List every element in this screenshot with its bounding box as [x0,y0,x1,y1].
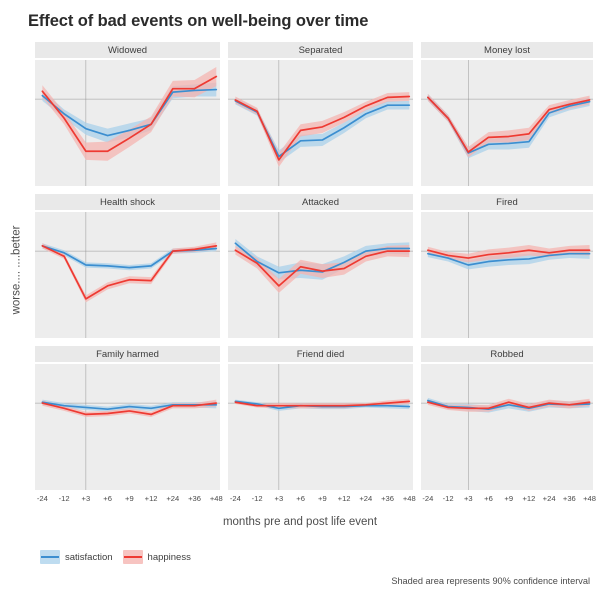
legend-item[interactable]: satisfaction [40,550,113,564]
confidence-band-happiness [235,92,409,167]
facet-title: Money lost [484,45,530,56]
facet-title: Health shock [100,197,155,208]
facet-plot-area [421,60,593,186]
chart-root: Effect of bad events on well-being over … [0,0,600,600]
facet-strip: Fired [421,194,593,210]
x-axis-tick: +3 [464,494,473,503]
x-axis-tick: +24 [543,494,556,503]
x-axis-tick: +3 [275,494,284,503]
legend-label: happiness [148,552,191,563]
x-axis-tick: +36 [381,494,394,503]
x-axis-label: months pre and post life event [0,516,600,528]
facet-panel: Money lost [421,42,593,186]
facet-panel: Family harmed [35,346,220,490]
x-axis-tick: +6 [484,494,493,503]
facet-strip: Family harmed [35,346,220,362]
x-axis-tick: +6 [103,494,112,503]
facet-title: Separated [299,45,343,56]
x-axis-tick: +6 [296,494,305,503]
facet-plot-area [421,212,593,338]
y-axis-label-text: worse.... ....better [10,226,22,315]
chart-caption: Shaded area represents 90% confidence in… [391,576,590,586]
facet-strip: Attacked [228,194,413,210]
chart-title: Effect of bad events on well-being over … [28,12,368,31]
facet-title: Attacked [302,197,339,208]
x-axis: -24-12+3+6+9+12+24+36+48 [35,494,220,508]
confidence-band-happiness [42,242,216,302]
x-axis-tick: -12 [59,494,70,503]
facet-panel: Separated [228,42,413,186]
facet-panel: Widowed [35,42,220,186]
y-axis-label: worse.... ....better [6,190,26,350]
x-axis-tick: +12 [522,494,535,503]
legend-label: satisfaction [65,552,113,563]
facet-strip: Friend died [228,346,413,362]
x-axis-tick: -12 [252,494,263,503]
x-axis-tick: +24 [166,494,179,503]
x-axis-tick: +48 [403,494,416,503]
x-axis-tick: -24 [37,494,48,503]
x-axis-tick: +3 [82,494,91,503]
facet-plot-area [421,364,593,490]
facet-strip: Separated [228,42,413,58]
x-axis-tick: +9 [318,494,327,503]
facet-title: Widowed [108,45,147,56]
facet-panel: Robbed [421,346,593,490]
facet-panel: Fired [421,194,593,338]
facet-strip: Money lost [421,42,593,58]
x-axis-tick: +24 [359,494,372,503]
legend-item[interactable]: happiness [123,550,191,564]
facet-plot-area [35,212,220,338]
facet-strip: Robbed [421,346,593,362]
facet-title: Family harmed [96,349,159,360]
facet-plot-area [228,212,413,338]
x-axis-tick: +36 [563,494,576,503]
x-axis-tick: +36 [188,494,201,503]
legend: satisfactionhappiness [40,550,191,564]
facet-plot-area [35,60,220,186]
x-axis-tick: -12 [443,494,454,503]
facet-strip: Health shock [35,194,220,210]
x-axis: -24-12+3+6+9+12+24+36+48 [228,494,413,508]
x-axis-tick: +9 [125,494,134,503]
facet-title: Robbed [490,349,523,360]
x-axis-tick: +48 [583,494,596,503]
x-axis-tick: -24 [422,494,433,503]
facet-plot-area [228,364,413,490]
facet-panel: Attacked [228,194,413,338]
facet-panel: Health shock [35,194,220,338]
x-axis-tick: +48 [210,494,223,503]
facet-plot-area [35,364,220,490]
x-axis-tick: -24 [230,494,241,503]
legend-swatch [123,550,143,564]
facet-title: Friend died [297,349,345,360]
x-axis: -24-12+3+6+9+12+24+36+48 [421,494,593,508]
facet-plot-area [228,60,413,186]
x-axis-tick: +12 [338,494,351,503]
facet-strip: Widowed [35,42,220,58]
legend-swatch [40,550,60,564]
x-axis-tick: +12 [145,494,158,503]
facet-panel: Friend died [228,346,413,490]
x-axis-tick: +9 [504,494,513,503]
facet-title: Fired [496,197,518,208]
